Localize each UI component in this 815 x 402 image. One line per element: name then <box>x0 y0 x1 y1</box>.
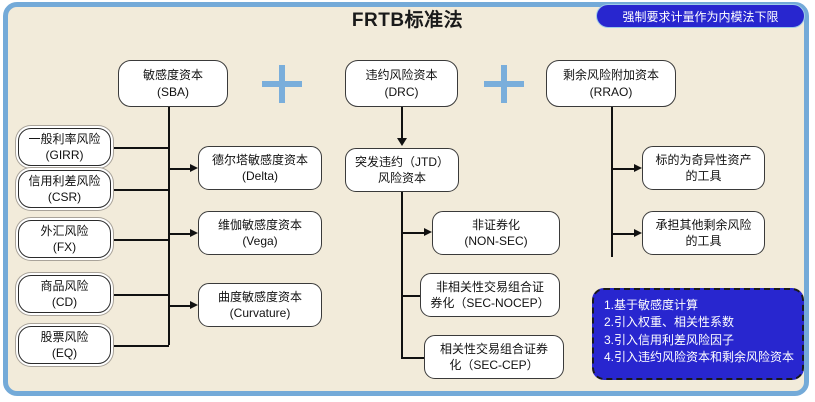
node-rrao[interactable]: 剩余风险附加资本 (RRAO) <box>546 60 676 107</box>
node-risk-eq-cn: 股票风险 <box>40 329 88 345</box>
node-sec-nocep-line1: 非相关性交易组合证 <box>436 279 544 295</box>
connector-sba-delta <box>168 168 192 170</box>
diagram-canvas: FRTB标准法 强制要求计量作为内模法下限 敏感度资本 (SBA) 违约风险资本… <box>0 0 815 402</box>
arrow-nonsec <box>424 228 432 236</box>
arrow-delta <box>190 164 198 172</box>
status-badge: 强制要求计量作为内模法下限 <box>596 4 805 28</box>
node-rrao-exotic-line1: 标的为奇异性资产 <box>655 152 751 168</box>
node-drc-label-en: (DRC) <box>385 84 419 100</box>
node-jtd-line2: 风险资本 <box>378 170 426 186</box>
node-rrao-label-en: (RRAO) <box>590 84 633 100</box>
arrow-curvature <box>190 301 198 309</box>
arrow-jtd <box>397 138 407 146</box>
node-sec-nocep[interactable]: 非相关性交易组合证 券化（SEC-NOCEP） <box>420 273 560 317</box>
node-risk-cd[interactable]: 商品风险 (CD) <box>18 275 111 313</box>
node-delta-en: (Delta) <box>242 168 278 184</box>
node-delta[interactable]: 德尔塔敏感度资本 (Delta) <box>198 146 322 190</box>
node-vega-en: (Vega) <box>242 233 277 249</box>
node-risk-fx[interactable]: 外汇风险 (FX) <box>18 220 111 258</box>
note-line-4: 4.引入违约风险资本和剩余风险资本 <box>604 349 794 366</box>
node-risk-girr-cn: 一般利率风险 <box>28 131 100 147</box>
node-risk-csr[interactable]: 信用利差风险 (CSR) <box>18 170 111 208</box>
note-line-1: 1.基于敏感度计算 <box>604 297 794 314</box>
node-curvature[interactable]: 曲度敏感度资本 (Curvature) <box>198 283 322 327</box>
node-risk-girr-en: (GIRR) <box>46 147 84 163</box>
node-sec-cep-line2: 化（SEC-CEP） <box>449 357 538 373</box>
node-rrao-other-line2: 的工具 <box>685 233 721 249</box>
node-drc[interactable]: 违约风险资本 (DRC) <box>345 60 458 107</box>
node-sba-label-en: (SBA) <box>157 84 189 100</box>
node-curvature-cn: 曲度敏感度资本 <box>218 289 302 305</box>
node-non-sec-line1: 非证券化 <box>472 217 520 233</box>
node-risk-csr-cn: 信用利差风险 <box>28 173 100 189</box>
node-risk-cd-cn: 商品风险 <box>40 278 88 294</box>
note-line-3: 3.引入信用利差风险因子 <box>604 332 794 349</box>
connector-sba-trunk <box>168 107 170 345</box>
node-drc-label-cn: 违约风险资本 <box>365 67 437 83</box>
plus-icon-2 <box>484 65 524 103</box>
node-non-sec[interactable]: 非证券化 (NON-SEC) <box>432 211 560 255</box>
node-rrao-other-line1: 承担其他剩余风险 <box>655 217 751 233</box>
note-line-2: 2.引入权重、相关性系数 <box>604 314 794 331</box>
connector-jtd-nonsec <box>401 232 426 234</box>
node-risk-eq[interactable]: 股票风险 (EQ) <box>18 326 111 364</box>
connector-sba-curvature <box>168 305 192 307</box>
node-risk-girr[interactable]: 一般利率风险 (GIRR) <box>18 128 111 166</box>
connector-rrao-exotic <box>611 168 636 170</box>
node-risk-csr-en: (CSR) <box>48 189 81 205</box>
node-sec-nocep-line2: 券化（SEC-NOCEP） <box>430 295 549 311</box>
node-rrao-exotic[interactable]: 标的为奇异性资产 的工具 <box>642 146 765 190</box>
node-sec-cep-line1: 相关性交易组合证券 <box>440 341 548 357</box>
node-vega[interactable]: 维伽敏感度资本 (Vega) <box>198 211 322 255</box>
node-curvature-en: (Curvature) <box>230 305 291 321</box>
arrow-vega <box>190 229 198 237</box>
connector-sba-vega <box>168 233 192 235</box>
node-risk-fx-cn: 外汇风险 <box>40 223 88 239</box>
node-rrao-other[interactable]: 承担其他剩余风险 的工具 <box>642 211 765 255</box>
node-rrao-label-cn: 剩余风险附加资本 <box>563 67 659 83</box>
arrow-exotic <box>634 164 642 172</box>
node-sba-label-cn: 敏感度资本 <box>143 67 203 83</box>
node-sec-cep[interactable]: 相关性交易组合证券 化（SEC-CEP） <box>424 335 564 379</box>
connector-jtd-trunk <box>401 192 403 358</box>
node-rrao-exotic-line2: 的工具 <box>685 168 721 184</box>
node-vega-cn: 维伽敏感度资本 <box>218 217 302 233</box>
node-risk-fx-en: (FX) <box>53 239 76 255</box>
node-jtd[interactable]: 突发违约（JTD） 风险资本 <box>345 148 459 192</box>
node-risk-cd-en: (CD) <box>52 294 77 310</box>
node-sba[interactable]: 敏感度资本 (SBA) <box>118 60 228 107</box>
node-risk-eq-en: (EQ) <box>52 345 77 361</box>
node-delta-cn: 德尔塔敏感度资本 <box>212 152 308 168</box>
arrow-other <box>634 229 642 237</box>
node-non-sec-line2: (NON-SEC) <box>464 233 527 249</box>
summary-note: 1.基于敏感度计算 2.引入权重、相关性系数 3.引入信用利差风险因子 4.引入… <box>592 288 804 380</box>
plus-icon-1 <box>262 65 302 103</box>
connector-jtd-seccep <box>401 357 426 359</box>
node-jtd-line1: 突发违约（JTD） <box>355 154 449 170</box>
connector-rrao-other <box>611 233 636 235</box>
connector-drc-jtd <box>401 107 403 140</box>
